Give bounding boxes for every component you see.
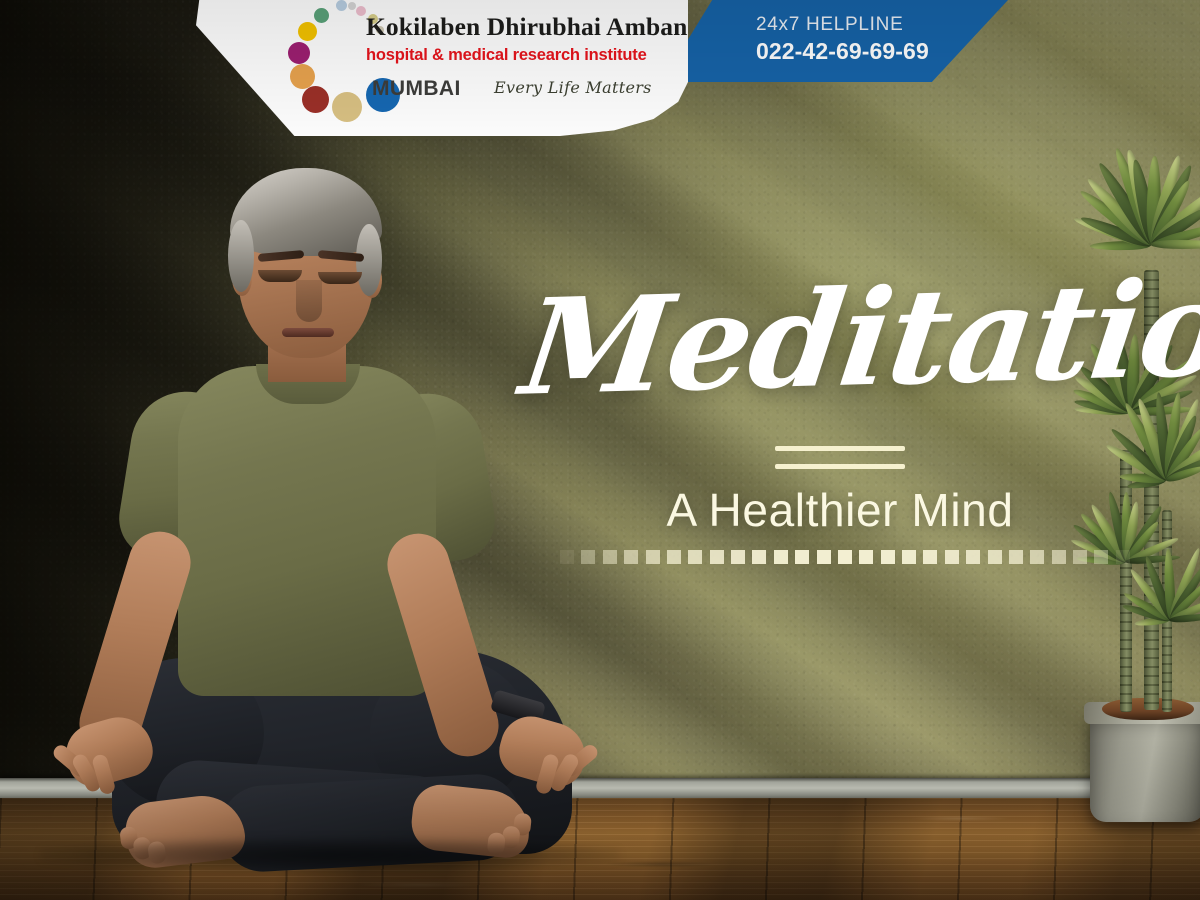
dash-segment — [1030, 550, 1044, 564]
dash-segment — [624, 550, 638, 564]
man-mouth — [282, 328, 334, 337]
dash-segment — [603, 550, 617, 564]
helpline-number[interactable]: 022-42-69-69-69 — [756, 37, 996, 67]
dash-segment — [859, 550, 873, 564]
man-floor-shadow — [40, 838, 620, 872]
dash-segment — [581, 550, 595, 564]
divider-line — [775, 464, 905, 469]
dash-segment — [988, 550, 1002, 564]
logo-dot — [290, 64, 315, 89]
man-hair-side — [228, 220, 254, 292]
page-subtitle: A Healthier Mind — [625, 487, 1055, 533]
dash-segment — [646, 550, 660, 564]
man-eye-right-closed — [318, 272, 362, 284]
headline-block: Meditation A Healthier Mind — [520, 282, 1160, 582]
dash-segment — [710, 550, 724, 564]
dash-segment — [667, 550, 681, 564]
dash-segment — [817, 550, 831, 564]
logo-text-group: Kokilaben Dhirubhai Ambani hospital & me… — [366, 14, 696, 63]
logo-dot — [336, 0, 347, 11]
dash-segment — [945, 550, 959, 564]
dash-segment — [1094, 550, 1108, 564]
dash-segment — [688, 550, 702, 564]
man-torso — [178, 366, 436, 696]
logo-dot — [288, 42, 310, 64]
dash-segment — [966, 550, 980, 564]
logo-city: MUMBAI — [372, 78, 461, 99]
helpline-text-group: 24x7 HELPLINE 022-42-69-69-69 — [756, 13, 996, 67]
logo-dot — [356, 6, 366, 16]
dash-segment — [1009, 550, 1023, 564]
dash-segment — [923, 550, 937, 564]
logo-hospital-subtitle: hospital & medical research institute — [366, 47, 703, 63]
plant-leaf — [1151, 240, 1200, 250]
dash-segment — [731, 550, 745, 564]
helpline-label: 24x7 HELPLINE — [756, 13, 996, 37]
dash-segment — [1052, 550, 1066, 564]
dash-segment — [1073, 550, 1087, 564]
dash-segment — [795, 550, 809, 564]
plant-pot — [1090, 710, 1200, 822]
logo-tagline: Every Life Matters — [494, 80, 652, 96]
logo-dot — [348, 2, 356, 10]
dash-segment — [560, 550, 574, 564]
dash-segment — [774, 550, 788, 564]
logo-dot — [314, 8, 329, 23]
logo-dot — [302, 86, 329, 113]
meditation-poster: 24x7 HELPLINE 022-42-69-69-69 Kokilaben … — [0, 0, 1200, 900]
page-title: Meditation — [515, 265, 1165, 415]
logo-dot — [332, 92, 362, 122]
dash-segment — [902, 550, 916, 564]
logo-dot — [298, 22, 317, 41]
title-divider — [775, 446, 905, 469]
logo-hospital-name: Kokilaben Dhirubhai Ambani — [366, 14, 696, 40]
divider-line — [775, 446, 905, 451]
man-nose — [296, 280, 322, 322]
dash-segment — [838, 550, 852, 564]
dash-segment — [881, 550, 895, 564]
dash-segment — [752, 550, 766, 564]
dash-segment — [1116, 550, 1130, 564]
dashed-separator — [560, 550, 1130, 564]
